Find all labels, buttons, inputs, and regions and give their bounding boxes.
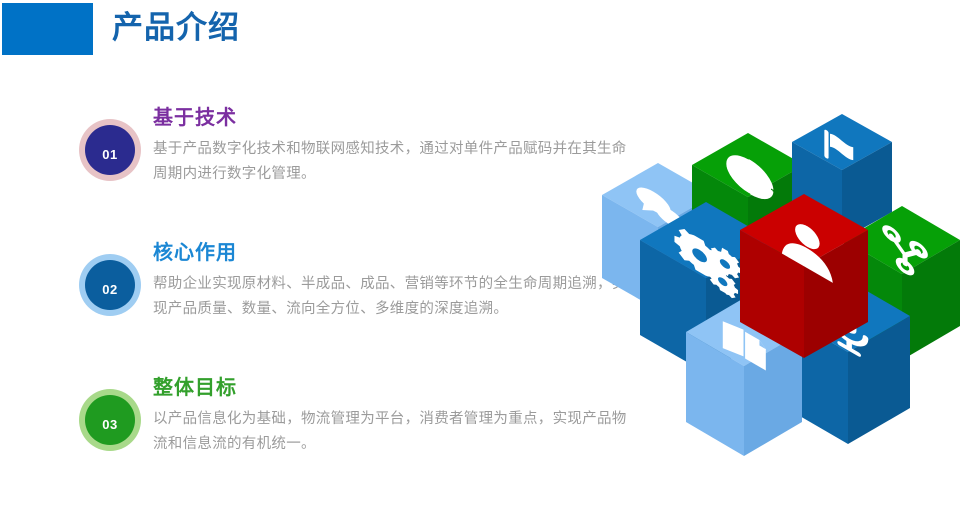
section-body: 整体目标 以产品信息化为基础，物流管理为平台，消费者管理为重点，实现产品物流和信… (153, 375, 633, 457)
section-badge-03: 03 (79, 389, 141, 451)
section-text: 帮助企业实现原材料、半成品、成品、营销等环节的全生命周期追溯，实现产品质量、数量… (153, 272, 633, 322)
section-heading: 核心作用 (153, 240, 633, 266)
section-badge-02: 02 (79, 254, 141, 316)
badge-number: 03 (102, 418, 117, 451)
section-body: 基于技术 基于产品数字化技术和物联网感知技术，通过对单件产品赋码并在其生命周期内… (153, 105, 633, 187)
badge-number: 01 (102, 148, 117, 181)
feature-list: 01 基于技术 基于产品数字化技术和物联网感知技术，通过对单件产品赋码并在其生命… (0, 105, 640, 510)
section-text: 基于产品数字化技术和物联网感知技术，通过对单件产品赋码并在其生命周期内进行数字化… (153, 137, 633, 187)
list-item: 03 整体目标 以产品信息化为基础，物流管理为平台，消费者管理为重点，实现产品物… (0, 375, 640, 510)
page-header: 产品介绍 (0, 0, 960, 70)
header-accent-swatch (2, 3, 93, 55)
list-item: 01 基于技术 基于产品数字化技术和物联网感知技术，通过对单件产品赋码并在其生命… (0, 105, 640, 240)
list-item: 02 核心作用 帮助企业实现原材料、半成品、成品、营销等环节的全生命周期追溯，实… (0, 240, 640, 375)
section-text: 以产品信息化为基础，物流管理为平台，消费者管理为重点，实现产品物流和信息流的有机… (153, 407, 633, 457)
section-heading: 整体目标 (153, 375, 633, 401)
badge-number: 02 (102, 283, 117, 316)
section-badge-01: 01 (79, 119, 141, 181)
page-title: 产品介绍 (112, 6, 240, 50)
section-heading: 基于技术 (153, 105, 633, 131)
section-body: 核心作用 帮助企业实现原材料、半成品、成品、营销等环节的全生命周期追溯，实现产品… (153, 240, 633, 322)
3d-cube-cluster-graphic (596, 100, 960, 483)
